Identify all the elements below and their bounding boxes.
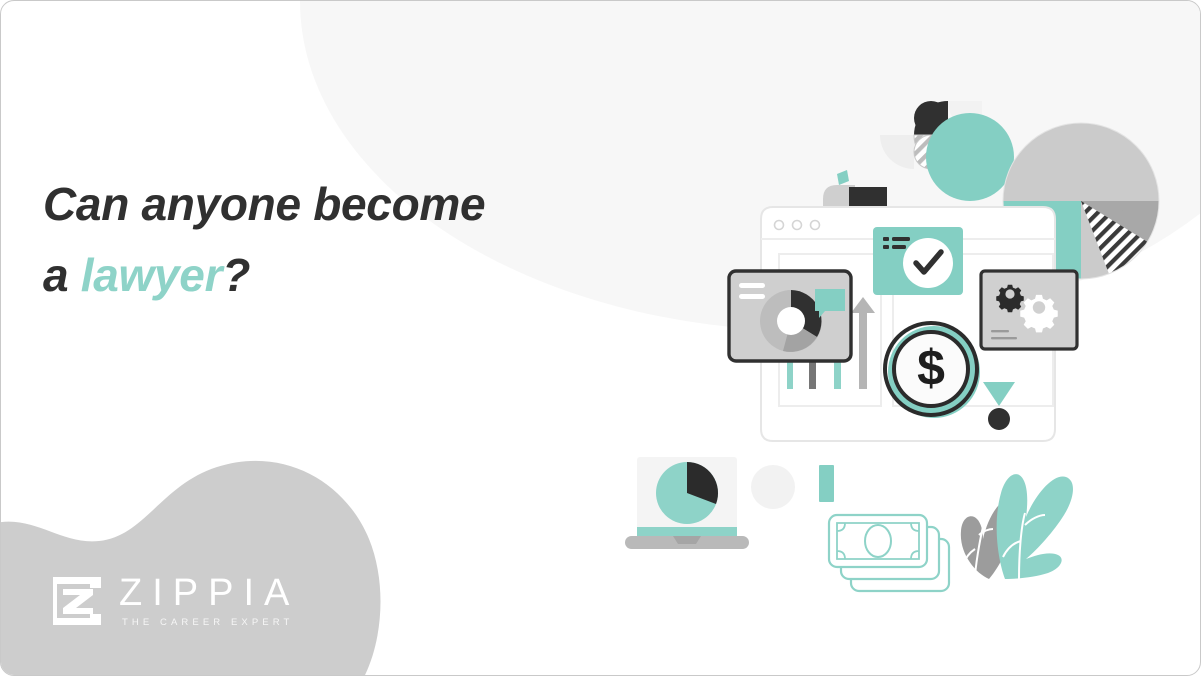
headline-prefix: a — [43, 249, 81, 301]
plant-leaves — [961, 474, 1073, 579]
laptop-pie-chart — [625, 457, 749, 549]
logo-wordmark: ZIPPIA — [119, 574, 299, 612]
headline-line-1: Can anyone become — [43, 178, 485, 230]
teal-bar — [819, 465, 834, 502]
donut-chart — [760, 290, 822, 352]
checkmark-card — [873, 227, 963, 295]
headline-suffix: ? — [222, 249, 250, 301]
gears-card — [981, 271, 1077, 349]
petal-cluster — [880, 101, 1014, 201]
crescent-shape — [751, 465, 795, 509]
check-circle — [903, 238, 953, 288]
grey-blob-decoration — [0, 419, 387, 676]
headline-accent-word: lawyer — [81, 249, 222, 301]
leaf-teal — [997, 474, 1073, 579]
zippia-logo[interactable]: ZIPPIA THE CAREER EXPERT — [51, 574, 299, 628]
career-analytics-illustration: $ — [601, 49, 1201, 639]
page-title: Can anyone become a lawyer? — [43, 169, 643, 312]
zippia-z-mark-icon — [51, 575, 103, 627]
teal-shard — [837, 170, 849, 185]
slide-canvas: Can anyone become a lawyer? ZIPPIA THE C… — [0, 0, 1201, 676]
dark-dot — [988, 408, 1010, 430]
gear-dark-icon — [996, 285, 1024, 313]
dollar-coin: $ — [885, 323, 980, 418]
logo-tagline: THE CAREER EXPERT — [122, 617, 299, 628]
donut-chart-card — [729, 271, 851, 361]
money-stack — [829, 515, 949, 591]
headline-line-2: a lawyer? — [43, 240, 643, 311]
gear-white-icon — [1020, 295, 1057, 332]
dollar-symbol: $ — [917, 340, 945, 396]
